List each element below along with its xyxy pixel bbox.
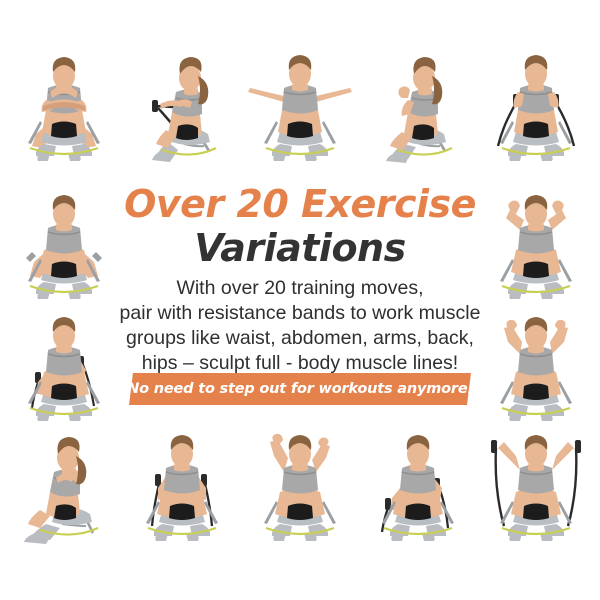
exercise-photo-seated-bicep-curl-side <box>364 48 472 173</box>
body-copy-line-2: pair with resistance bands to work muscl… <box>70 301 530 326</box>
headline-line-2: Variations <box>70 226 530 270</box>
infographic-poster: Over 20 Exercise Variations With over 20… <box>0 0 600 600</box>
body-copy-line-1: With over 20 training moves, <box>70 276 530 301</box>
exercise-photo-side-profile-press <box>10 432 118 554</box>
exercise-photo-seated-low-band-row <box>364 432 472 554</box>
exercise-photo-seated-double-band-curl <box>128 432 236 554</box>
exercise-photo-seated-lateral-raise <box>246 48 354 173</box>
promo-banner: No need to step out for workouts anymore… <box>131 373 469 405</box>
exercise-photo-seated-arms-up-flex <box>246 432 354 554</box>
exercise-photo-seated-row-band-pull <box>128 48 236 173</box>
exercise-photo-seated-arms-crossed <box>10 48 118 173</box>
headline-line-1: Over 20 Exercise <box>70 182 530 226</box>
center-text-block: Over 20 Exercise Variations With over 20… <box>70 182 530 376</box>
exercise-photo-seated-overhead-band-pull <box>482 48 590 173</box>
exercise-photo-seated-wide-band-raise <box>482 432 590 554</box>
body-copy: With over 20 training moves, pair with r… <box>70 276 530 376</box>
promo-banner-text: No need to step out for workouts anymore… <box>131 373 469 405</box>
body-copy-line-3: groups like waist, abdomen, arms, back, <box>70 326 530 351</box>
